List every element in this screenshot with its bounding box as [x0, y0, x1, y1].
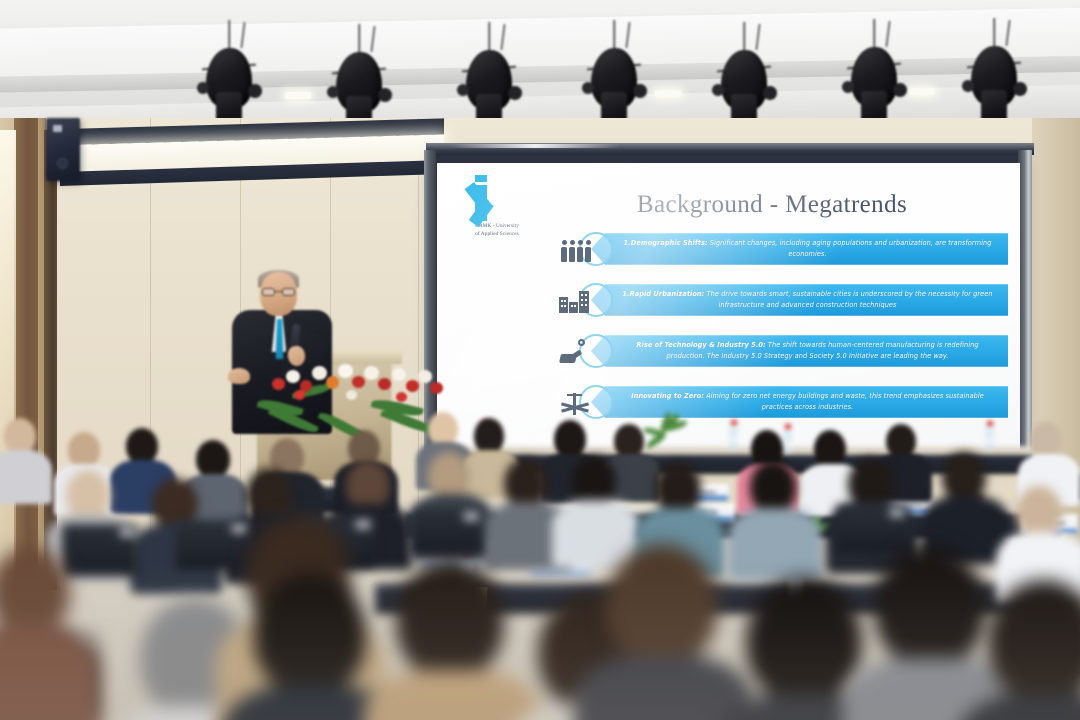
head — [614, 424, 644, 458]
screen-rail-highlight — [450, 144, 620, 148]
head — [66, 470, 110, 520]
light-cable — [228, 20, 230, 48]
window-glyph — [561, 305, 563, 307]
person-glyph — [561, 247, 567, 262]
light-cable — [358, 24, 360, 52]
window-glyph — [561, 300, 563, 302]
bullet-heading: 1.Rapid Urbanization: — [622, 290, 704, 298]
slide-bullet-item: 1.Rapid Urbanization: The drive towards … — [553, 280, 1008, 320]
light-knob — [197, 82, 209, 94]
person-glyph — [585, 247, 591, 262]
bottle-label — [783, 440, 792, 448]
bottle-label — [985, 437, 994, 445]
head — [606, 544, 718, 666]
person-glyph — [569, 247, 575, 262]
window-glyph — [574, 305, 576, 307]
body — [728, 508, 822, 580]
light-knob — [508, 86, 522, 100]
tower-structure-icon — [553, 382, 597, 422]
head — [942, 452, 986, 502]
window-glyph — [571, 305, 573, 307]
flower-glyph — [326, 376, 339, 389]
flower-glyph — [396, 392, 407, 402]
head — [504, 458, 548, 508]
left-wall-window-glow — [0, 130, 16, 570]
bullet-banner: 1.Demographic Shifts: Significant change… — [591, 233, 1008, 264]
light-knob — [962, 80, 974, 92]
conference-photo-scene: KAMK - University of Applied Sciences Ba… — [0, 0, 1080, 720]
light-knob — [1013, 82, 1027, 96]
bottle-cap — [785, 424, 791, 429]
slide-bullet-item: 1.Demographic Shifts: Significant change… — [553, 229, 1008, 269]
head — [428, 452, 470, 500]
nameplate-bar — [531, 570, 591, 574]
building-glyph — [559, 297, 568, 313]
light-knob — [842, 81, 854, 93]
people-group-icon — [553, 229, 597, 269]
chair-tag — [890, 509, 904, 516]
organization-name-line1: KAMK - University — [459, 223, 535, 231]
bullet-text: 1.Demographic Shifts: Significant change… — [619, 238, 996, 258]
building-glyph — [569, 302, 578, 313]
bullet-body: Significant changes, including aging pop… — [710, 239, 992, 257]
flower-glyph — [364, 366, 379, 380]
loudspeaker-icon — [46, 118, 80, 181]
ceiling-light-strip — [655, 90, 681, 97]
tower-mast-glyph — [573, 393, 576, 415]
window-glyph — [585, 294, 587, 296]
head — [254, 574, 366, 696]
window-glyph — [585, 304, 587, 306]
organization-name-line2: of Applied Sciences — [459, 231, 535, 239]
flower-glyph — [352, 376, 365, 388]
ceiling — [0, 0, 1080, 132]
slide-bullet-list: 1.Demographic Shifts: Significant change… — [553, 229, 1008, 433]
flower-glyph — [392, 368, 406, 381]
chair — [176, 520, 250, 570]
building-glyph — [579, 291, 589, 313]
body — [364, 670, 542, 720]
glasses-lens — [282, 288, 295, 296]
presentation-slide: KAMK - University of Applied Sciences Ba… — [437, 163, 1020, 451]
window-glyph — [581, 304, 583, 306]
left-wall-dark-strip — [14, 118, 38, 588]
ceiling-light-strip — [910, 88, 934, 95]
chair-tag — [232, 525, 246, 532]
icon-shape — [559, 236, 591, 262]
chair — [412, 508, 482, 554]
flower-glyph — [406, 380, 419, 392]
city-buildings-icon — [553, 280, 597, 320]
bullet-body: Aiming for zero net energy buildings and… — [706, 392, 984, 410]
window-glyph — [564, 300, 566, 302]
head — [474, 418, 504, 454]
head — [1016, 486, 1062, 538]
bullet-text: Rise of Technology & Industry 5.0: The s… — [619, 340, 996, 360]
presenter-hand — [228, 368, 250, 384]
bottle-cap — [987, 421, 993, 426]
bottle-cap — [731, 420, 737, 425]
slide-title: Background - Megatrends — [537, 191, 1007, 219]
head — [346, 460, 390, 510]
bullet-banner: 1.Rapid Urbanization: The drive towards … — [591, 284, 1008, 315]
slide-bullet-item: Rise of Technology & Industry 5.0: The s… — [553, 331, 1008, 371]
projection-screen: KAMK - University of Applied Sciences Ba… — [437, 163, 1020, 451]
window-glyph — [581, 299, 583, 301]
light-knob — [327, 86, 339, 98]
window-glyph — [585, 299, 587, 301]
head — [246, 468, 292, 520]
light-knob — [763, 86, 777, 100]
icon-shape — [559, 338, 591, 364]
robot-arm-icon — [553, 331, 597, 371]
light-knob — [248, 84, 262, 98]
window-glyph — [564, 305, 566, 307]
flower-glyph — [378, 378, 391, 390]
light-knob — [457, 84, 469, 96]
chair-tag — [464, 513, 478, 520]
light-cable — [993, 18, 995, 46]
light-knob — [378, 88, 392, 102]
chair — [62, 524, 138, 576]
head — [746, 578, 862, 704]
bullet-banner: Rise of Technology & Industry 5.0: The s… — [591, 335, 1008, 366]
flower-glyph — [418, 370, 432, 383]
person-glyph — [577, 247, 583, 262]
light-cable — [743, 22, 745, 50]
head — [396, 560, 504, 680]
head — [1030, 422, 1062, 458]
light-cable — [488, 22, 490, 50]
slide-bullet-item: Innovating to Zero: Aiming for zero net … — [553, 382, 1008, 422]
light-cable — [613, 20, 615, 48]
bullet-heading: 1.Demographic Shifts: — [624, 239, 708, 247]
logo-dot — [475, 175, 487, 182]
speaker-badge — [53, 125, 62, 132]
head — [68, 432, 100, 468]
light-cable — [873, 19, 875, 47]
icon-shape — [559, 287, 591, 313]
light-knob — [712, 84, 724, 96]
light-knob — [893, 83, 907, 97]
kamk-k-logo-icon — [472, 175, 522, 221]
water-bottle — [783, 428, 792, 453]
flower-glyph — [430, 382, 443, 394]
glasses-lens — [262, 288, 275, 296]
icon-shape — [559, 389, 591, 415]
ceiling-light-strip — [285, 92, 311, 99]
bullet-text: 1.Rapid Urbanization: The drive towards … — [619, 289, 996, 309]
flower-glyph — [346, 390, 357, 400]
body — [0, 450, 52, 504]
bottle-label — [729, 436, 738, 444]
flower-glyph — [312, 366, 327, 380]
chair-tag — [120, 529, 134, 536]
glasses-icon — [262, 288, 295, 296]
organization-name: KAMK - University of Applied Sciences — [459, 223, 535, 238]
flower-glyph — [338, 364, 353, 378]
organization-logo: KAMK - University of Applied Sciences — [459, 175, 535, 238]
head — [874, 546, 986, 668]
head — [848, 458, 894, 510]
head — [4, 418, 36, 454]
bullet-heading: Rise of Technology & Industry 5.0: — [636, 341, 765, 349]
screen-right-edge — [1018, 150, 1032, 462]
head — [126, 428, 158, 464]
head — [814, 430, 846, 468]
head — [554, 420, 586, 458]
window-glyph — [581, 294, 583, 296]
head — [572, 456, 616, 506]
speaker-driver — [57, 158, 68, 169]
potted-plant — [648, 398, 688, 432]
water-bottle — [729, 424, 738, 449]
tower-top-glyph — [567, 394, 582, 397]
head — [750, 460, 796, 514]
head — [428, 412, 458, 446]
water-bottle — [985, 425, 994, 450]
glasses-bridge — [275, 291, 282, 292]
head — [655, 462, 701, 514]
flower-glyph — [286, 370, 300, 383]
head — [196, 440, 230, 478]
body — [574, 656, 754, 720]
chair — [836, 504, 908, 552]
robot-head-glyph — [578, 339, 585, 346]
light-knob — [582, 82, 594, 94]
chair-tag — [356, 521, 370, 528]
light-knob — [633, 84, 647, 98]
body — [0, 626, 100, 720]
bullet-body: The drive towards smart, sustainable cit… — [707, 290, 993, 308]
flower-glyph — [272, 378, 285, 390]
head — [886, 424, 916, 458]
flower-glyph — [294, 390, 305, 400]
